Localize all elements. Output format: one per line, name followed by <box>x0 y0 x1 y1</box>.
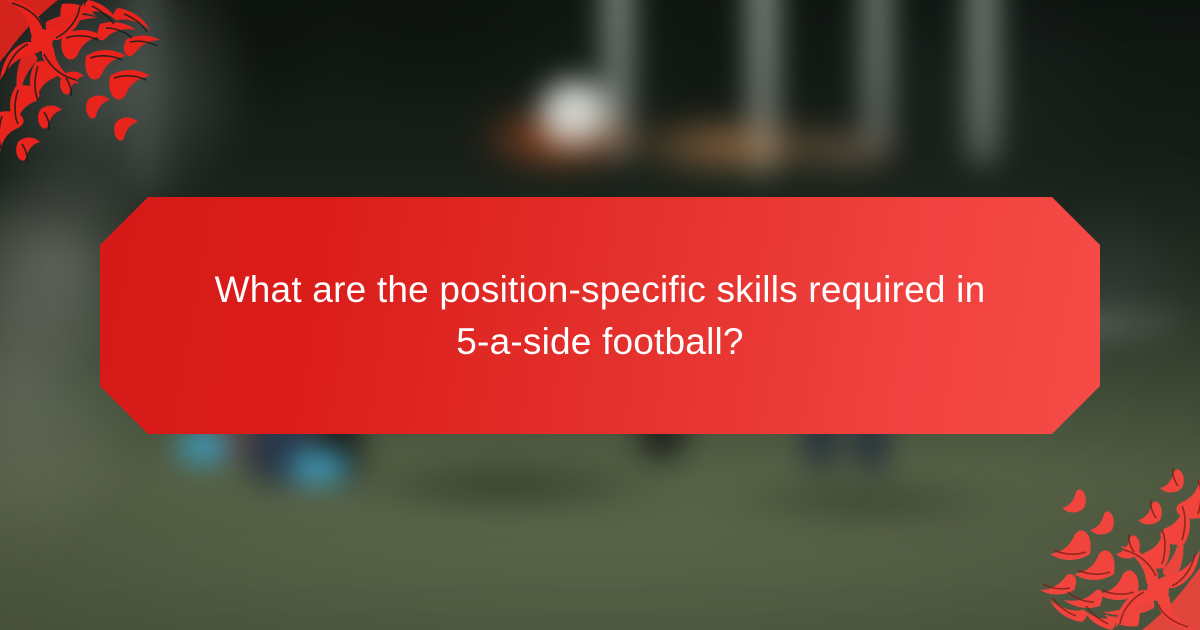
question-banner: What are the position-specific skills re… <box>100 197 1100 434</box>
question-title: What are the position-specific skills re… <box>130 264 1070 368</box>
floral-ornament-icon <box>0 0 170 170</box>
floral-ornament-icon <box>1030 460 1200 630</box>
share-card: What are the position-specific skills re… <box>0 0 1200 630</box>
